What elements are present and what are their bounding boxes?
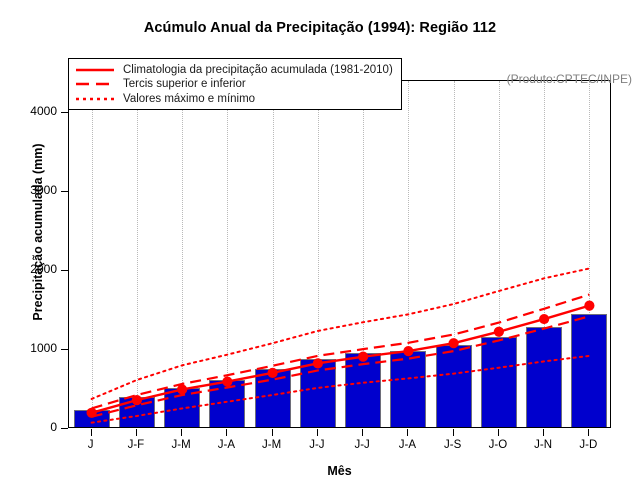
- x-tick-mark: [226, 429, 227, 436]
- legend-label: Tercis superior e inferior: [123, 78, 246, 90]
- precipitation-chart-figure: Acúmulo Anual da Precipitação (1994): Re…: [0, 0, 640, 500]
- x-tick-label: J-A: [202, 439, 250, 451]
- chart-legend: Climatologia da precipitação acumulada (…: [68, 58, 402, 110]
- x-tick-label: J-A: [383, 439, 431, 451]
- x-tick-label: J-M: [157, 439, 205, 451]
- x-tick-mark: [543, 429, 544, 436]
- x-tick-label: J-O: [474, 439, 522, 451]
- x-tick-label: J-F: [112, 439, 160, 451]
- series-line: [92, 316, 590, 416]
- y-tick-mark: [61, 112, 68, 113]
- legend-item: Valores máximo e mínimo: [75, 92, 395, 106]
- series-line: [92, 306, 590, 413]
- legend-line-icon: [75, 93, 115, 105]
- y-tick-label: 0: [50, 420, 57, 434]
- page-title: Acúmulo Anual da Precipitação (1994): Re…: [0, 20, 640, 36]
- series-line: [92, 356, 590, 423]
- legend-item: Climatologia da precipitação acumulada (…: [75, 63, 395, 77]
- series-marker: [449, 338, 459, 348]
- x-tick-mark: [407, 429, 408, 436]
- legend-label: Valores máximo e mínimo: [123, 93, 255, 105]
- legend-label: Climatologia da precipitação acumulada (…: [123, 64, 393, 76]
- series-marker: [403, 346, 413, 356]
- x-tick-mark: [498, 429, 499, 436]
- legend-line-icon: [75, 78, 115, 90]
- legend-line-icon: [75, 64, 115, 76]
- x-tick-mark: [588, 429, 589, 436]
- series-marker: [358, 352, 368, 362]
- line-series-overlay: [69, 81, 610, 427]
- x-tick-mark: [272, 429, 273, 436]
- x-tick-label: J-J: [293, 439, 341, 451]
- x-axis-label: Mês: [68, 464, 611, 478]
- series-marker: [584, 301, 594, 311]
- series-line: [92, 295, 590, 409]
- plot-inner: [69, 81, 610, 427]
- y-tick-mark: [61, 270, 68, 271]
- x-tick-mark: [91, 429, 92, 436]
- x-tick-label: J: [67, 439, 115, 451]
- y-tick-mark: [61, 191, 68, 192]
- x-tick-label: J-S: [429, 439, 477, 451]
- legend-item: Tercis superior e inferior: [75, 77, 395, 91]
- plot-area: [68, 80, 611, 428]
- x-tick-mark: [136, 429, 137, 436]
- series-marker: [222, 376, 232, 386]
- x-tick-label: J-M: [248, 439, 296, 451]
- series-marker: [268, 368, 278, 378]
- x-tick-label: J-D: [564, 439, 612, 451]
- x-tick-mark: [317, 429, 318, 436]
- x-tick-label: J-J: [338, 439, 386, 451]
- series-marker: [539, 314, 549, 324]
- y-axis-label: Precipitação acumulada (mm): [31, 82, 45, 382]
- product-watermark: (Produto:CPTEC/INPE): [507, 72, 632, 86]
- x-tick-mark: [362, 429, 363, 436]
- series-marker: [494, 327, 504, 337]
- series-line: [92, 268, 590, 399]
- y-tick-mark: [61, 428, 68, 429]
- x-tick-mark: [453, 429, 454, 436]
- x-tick-mark: [181, 429, 182, 436]
- series-marker: [313, 358, 323, 368]
- y-tick-mark: [61, 349, 68, 350]
- x-tick-label: J-N: [519, 439, 567, 451]
